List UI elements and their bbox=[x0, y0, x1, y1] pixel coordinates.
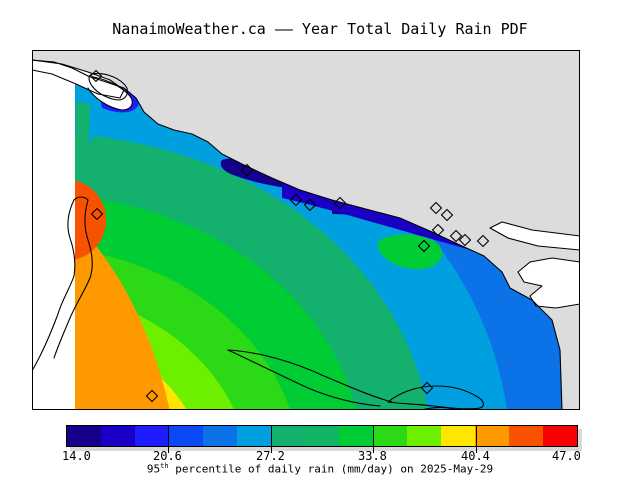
colorbar-gradient bbox=[66, 425, 578, 447]
caption-superscript: th bbox=[160, 462, 168, 470]
caption-suffix: percentile of daily rain (mm/day) on 202… bbox=[169, 463, 494, 476]
colorbar-label-3: 33.8 bbox=[358, 449, 387, 463]
colorbar-label-2: 27.2 bbox=[256, 449, 285, 463]
colorbar-swatch-6 bbox=[271, 426, 305, 446]
colorbar-label-1: 20.6 bbox=[153, 449, 182, 463]
colorbar-swatch-12 bbox=[475, 426, 509, 446]
contour-sliver-teal-nw bbox=[76, 102, 90, 176]
colorbar bbox=[66, 425, 578, 447]
colorbar-caption: 95th percentile of daily rain (mm/day) o… bbox=[0, 462, 640, 476]
colorbar-swatch-14 bbox=[543, 426, 577, 446]
chart-title: NanaimoWeather.ca —— Year Total Daily Ra… bbox=[0, 20, 640, 38]
colorbar-swatch-7 bbox=[305, 426, 339, 446]
colorbar-label-4: 40.4 bbox=[461, 449, 490, 463]
colorbar-swatch-10 bbox=[407, 426, 441, 446]
caption-prefix: 95 bbox=[147, 463, 160, 476]
colorbar-swatch-2 bbox=[135, 426, 169, 446]
map-panel bbox=[32, 50, 580, 410]
screenshot-root: NanaimoWeather.ca —— Year Total Daily Ra… bbox=[0, 0, 640, 480]
colorbar-label-5: 47.0 bbox=[552, 449, 581, 463]
colorbar-swatch-3 bbox=[169, 426, 203, 446]
colorbar-swatch-8 bbox=[339, 426, 373, 446]
colorbar-swatch-11 bbox=[441, 426, 475, 446]
colorbar-swatch-4 bbox=[203, 426, 237, 446]
colorbar-swatch-13 bbox=[509, 426, 543, 446]
colorbar-swatch-0 bbox=[67, 426, 101, 446]
colorbar-swatch-5 bbox=[237, 426, 271, 446]
colorbar-swatch-9 bbox=[373, 426, 407, 446]
colorbar-label-0: 14.0 bbox=[62, 449, 91, 463]
colorbar-swatch-1 bbox=[101, 426, 135, 446]
contour-map-svg bbox=[32, 50, 580, 410]
